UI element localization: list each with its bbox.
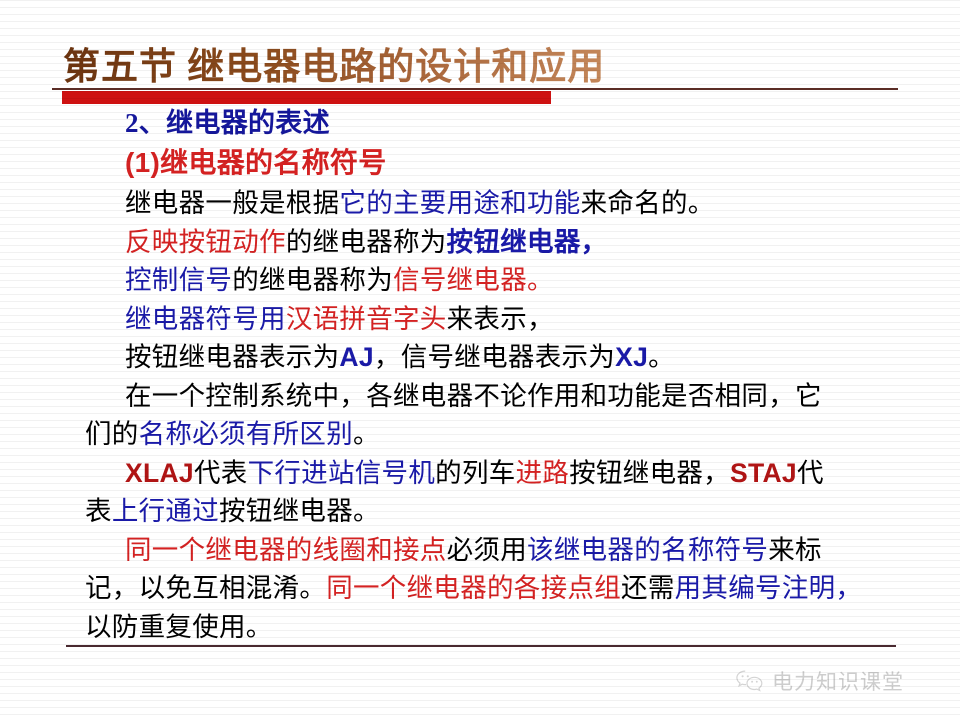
text-run: 按钮继电器，: [447, 227, 608, 257]
text-run: 代: [797, 458, 824, 488]
body-line-11: 表上行通过按钮继电器。: [0, 492, 960, 531]
body-line-2: (1)继电器的名称符号: [0, 143, 960, 184]
text-run: 按钮继电器表示为: [125, 342, 339, 372]
text-run: XJ: [615, 342, 648, 372]
text-run: 按钮继电器。: [219, 496, 380, 526]
body-line-8: 在一个控制系统中，各继电器不论作用和功能是否相同，它: [0, 377, 960, 416]
text-run: AJ: [339, 342, 373, 372]
body-line-9: 们的名称必须有所区别。: [0, 415, 960, 454]
text-run: STAJ: [730, 458, 797, 488]
text-run: 在一个控制系统中，各继电器不论作用和功能是否相同，它: [125, 381, 822, 411]
title-block: 第五节 继电器电路的设计和应用: [0, 36, 960, 108]
text-run: 进路: [516, 458, 570, 488]
body-line-14: 以防重复使用。: [0, 608, 960, 647]
text-run: (1): [125, 147, 160, 178]
text-run: 上行通过: [112, 496, 219, 526]
body-line-4: 反映按钮动作的继电器称为按钮继电器，: [0, 223, 960, 262]
text-run: 来标: [768, 535, 822, 565]
text-run: 同一个继电器的各接点组: [326, 573, 621, 603]
text-run: 的继电器称为: [286, 227, 447, 257]
text-run: 表: [85, 496, 112, 526]
slide-body-text: 2、继电器的表述(1)继电器的名称符号继电器一般是根据它的主要用途和功能来命名的…: [0, 104, 960, 646]
text-run: 反映按钮动作: [125, 227, 286, 257]
body-line-12: 同一个继电器的线圈和接点必须用该继电器的名称符号来标: [0, 531, 960, 570]
text-run: 2、继电器的表述: [125, 108, 330, 138]
text-run: 按钮继电器，: [569, 458, 730, 488]
text-run: 还需: [621, 573, 675, 603]
text-run: 们的: [85, 419, 139, 449]
text-run: 。: [353, 419, 380, 449]
text-run: 继电器一般是根据: [125, 188, 339, 218]
page-title: 第五节 继电器电路的设计和应用: [63, 36, 605, 90]
watermark-label: 电力知识课堂: [772, 666, 904, 696]
watermark: 电力知识课堂: [735, 666, 904, 696]
text-run: 来表示，: [447, 304, 554, 334]
text-run: 该继电器的名称符号: [527, 535, 768, 565]
text-run: 下行进站信号机: [248, 458, 436, 488]
text-run: 必须用: [447, 535, 527, 565]
body-line-6: 继电器符号用汉语拼音字头来表示，: [0, 300, 960, 339]
text-run: 信号继电器。: [393, 265, 554, 295]
footer-divider-rule: [66, 645, 896, 647]
text-run: 的列车: [435, 458, 515, 488]
text-run: 名称必须有所区别: [139, 419, 353, 449]
wechat-icon: [735, 669, 765, 693]
text-run: 它的主要用途和功能: [339, 188, 580, 218]
slide-canvas: 第五节 继电器电路的设计和应用 2、继电器的表述(1)继电器的名称符号继电器一般…: [0, 0, 960, 720]
body-line-13: 记，以免互相混淆。同一个继电器的各接点组还需用其编号注明，: [0, 569, 960, 608]
text-run: 汉语拼音字头: [286, 304, 447, 334]
body-line-5: 控制信号的继电器称为信号继电器。: [0, 261, 960, 300]
text-run: 来命名的。: [581, 188, 715, 218]
text-run: 同一个继电器的线圈和接点: [125, 535, 447, 565]
body-line-1: 2、继电器的表述: [0, 104, 960, 143]
text-run: 的继电器称为: [232, 265, 393, 295]
text-run: 。: [648, 342, 675, 372]
text-run: 用其编号注明，: [675, 573, 863, 603]
text-run: 继电器符号用: [125, 304, 286, 334]
body-line-3: 继电器一般是根据它的主要用途和功能来命名的。: [0, 184, 960, 223]
body-line-7: 按钮继电器表示为AJ，信号继电器表示为XJ。: [0, 338, 960, 377]
text-run: 以防重复使用。: [85, 612, 273, 642]
text-run: ，信号继电器表示为: [374, 342, 615, 372]
text-run: 继电器的名称符号: [160, 148, 386, 179]
text-run: 记，以免互相混淆。: [85, 573, 326, 603]
title-accent-bar: [62, 91, 551, 104]
text-run: XLAJ: [125, 458, 194, 488]
text-run: 控制信号: [125, 265, 232, 295]
text-run: 代表: [194, 458, 248, 488]
title-divider-rule: [52, 88, 898, 90]
body-line-10: XLAJ代表下行进站信号机的列车进路按钮继电器，STAJ代: [0, 454, 960, 493]
